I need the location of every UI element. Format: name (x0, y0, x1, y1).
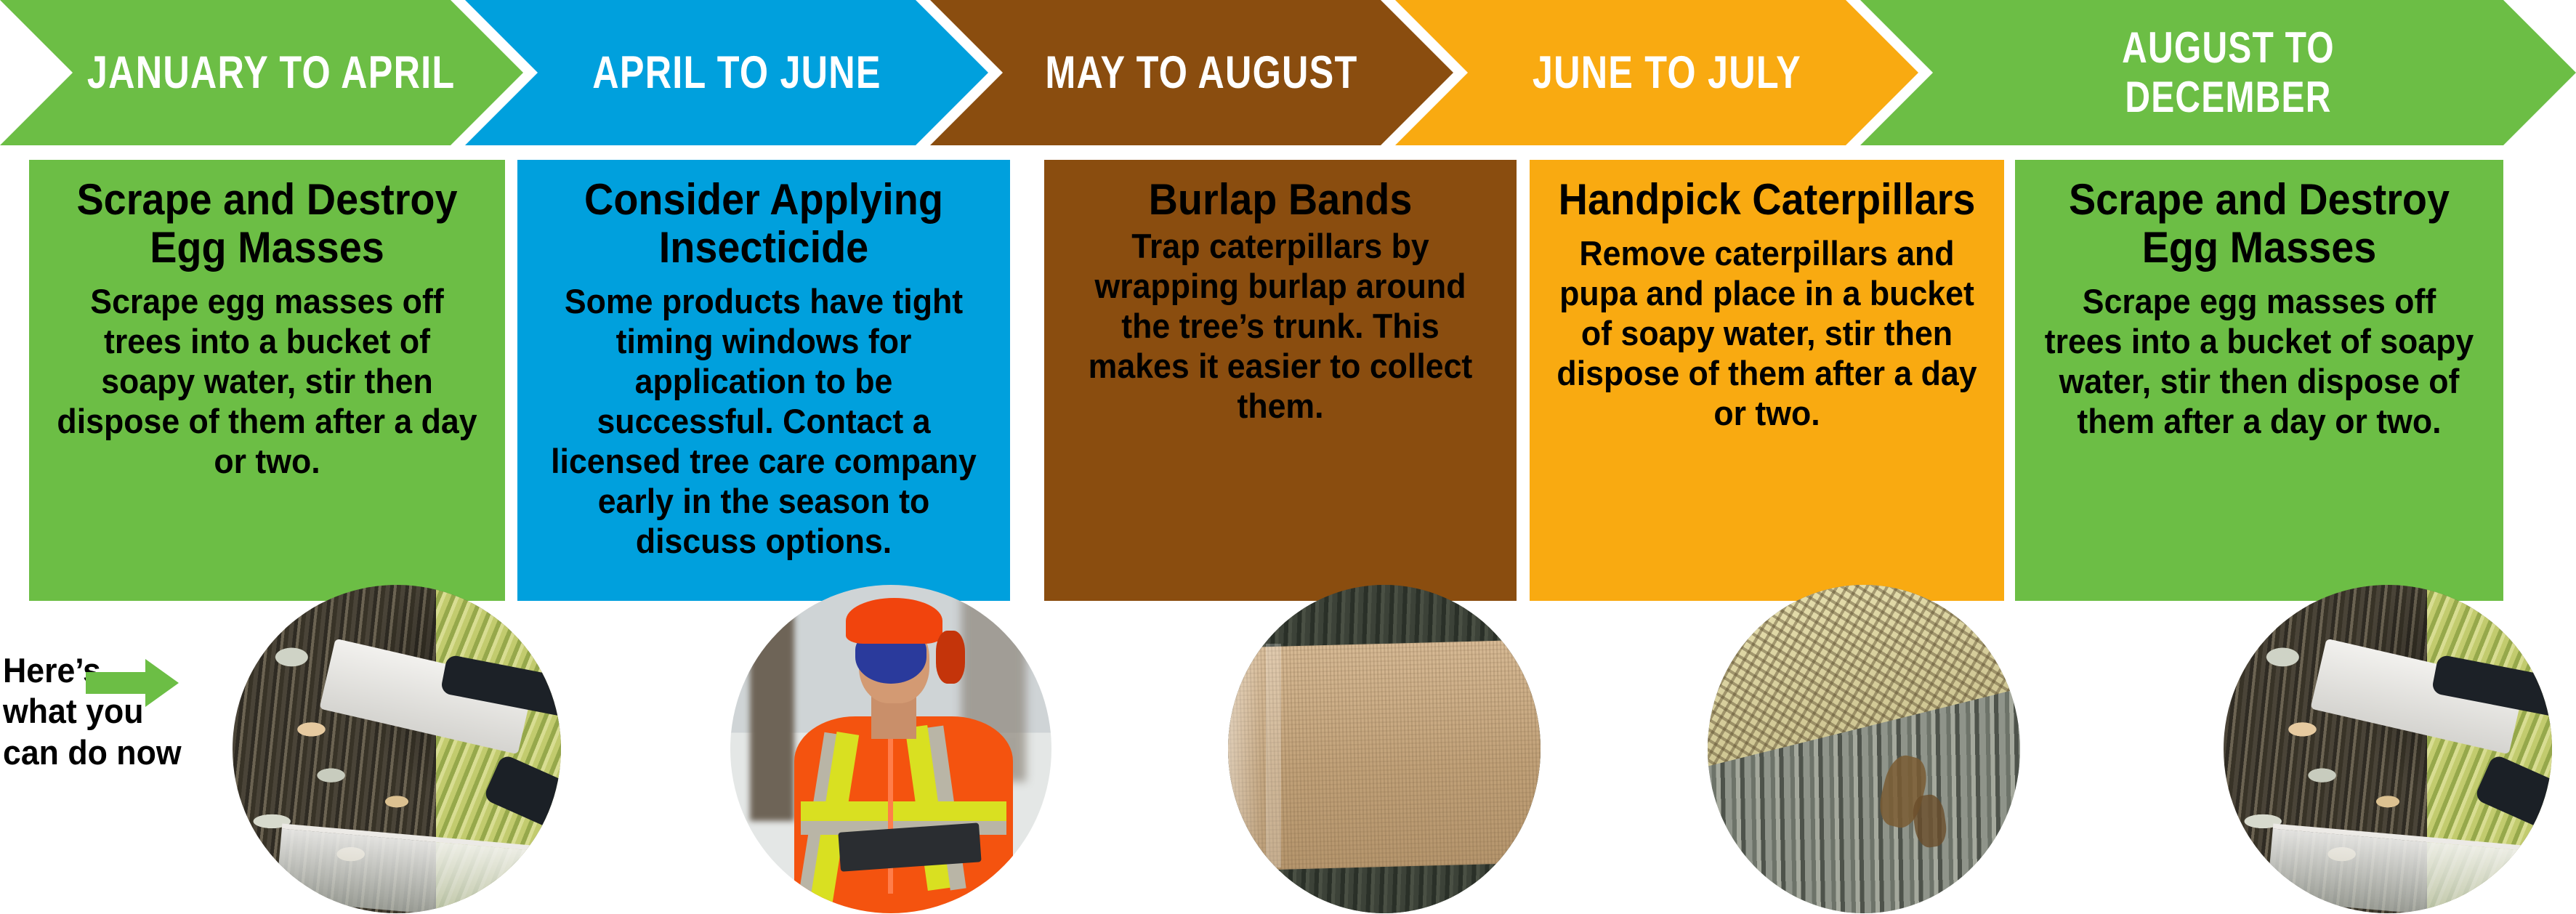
photo-scraping-egg-masses-2 (2224, 585, 2552, 913)
callout-line-3: can do now (3, 732, 210, 773)
photo-background-tree (750, 585, 795, 821)
right-arrow-icon (86, 659, 179, 707)
step-title-3: Burlap Bands (1073, 176, 1487, 224)
photo-caterpillars-under-burlap (1708, 585, 2020, 913)
photo-hard-hat (846, 598, 942, 644)
step-panel-3[interactable]: Burlap Bands Trap caterpillars by wrappi… (1044, 160, 1517, 601)
chevron-label-3: MAY TO AUGUST (1025, 49, 1357, 97)
photo-ear-protection (936, 631, 965, 683)
step-title-4: Handpick Caterpillars (1559, 176, 1976, 224)
chevron-label-wrap-4: JUNE TO JULY (1395, 0, 1918, 145)
chevron-label-1: JANUARY TO APRIL (68, 49, 456, 97)
chevron-label-4: JUNE TO JULY (1512, 49, 1801, 97)
photo-jacket-zipper (888, 729, 893, 894)
step-panel-2[interactable]: Consider Applying Insecticide Some produ… (517, 160, 1010, 601)
chevron-label-wrap-1: JANUARY TO APRIL (0, 0, 523, 145)
step-body-5: Scrape egg masses off trees into a bucke… (2040, 282, 2479, 442)
chevron-label-wrap-5: AUGUST TO DECEMBER (1860, 0, 2576, 145)
photo-scraping-egg-masses (233, 585, 561, 913)
step-panel-5[interactable]: Scrape and Destroy Egg Masses Scrape egg… (2015, 160, 2503, 601)
photo-highlight (1228, 631, 1272, 881)
step-body-2: Some products have tight timing windows … (542, 282, 985, 562)
step-body-3: Trap caterpillars by wrapping burlap aro… (1068, 227, 1492, 426)
chevron-label-2: APRIL TO JUNE (573, 49, 881, 97)
chevron-label-5: AUGUST TO DECEMBER (2102, 23, 2335, 123)
photo-arborist-inspecting-tree (730, 585, 1051, 913)
step-panel-1[interactable]: Scrape and Destroy Egg Masses Scrape egg… (29, 160, 505, 601)
infographic-canvas: JANUARY TO APRIL APRIL TO JUNE MAY TO AU… (0, 0, 2576, 914)
step-title-5: Scrape and Destroy Egg Masses (2044, 176, 2474, 272)
photo-burlap-band-on-trunk (1228, 585, 1541, 913)
step-body-1: Scrape egg masses off trees into a bucke… (53, 282, 480, 482)
step-title-2: Consider Applying Insecticide (546, 176, 980, 272)
step-panel-4[interactable]: Handpick Caterpillars Remove caterpillar… (1530, 160, 2004, 601)
photo-waist-stripe (801, 801, 1006, 821)
step-body-4: Remove caterpillars and pupa and place i… (1554, 234, 1979, 434)
timeline-header-band: JANUARY TO APRIL APRIL TO JUNE MAY TO AU… (0, 0, 2576, 145)
chevron-label-wrap-3: MAY TO AUGUST (930, 0, 1453, 145)
chevron-label-wrap-2: APRIL TO JUNE (465, 0, 988, 145)
step-title-1: Scrape and Destroy Egg Masses (58, 176, 477, 272)
